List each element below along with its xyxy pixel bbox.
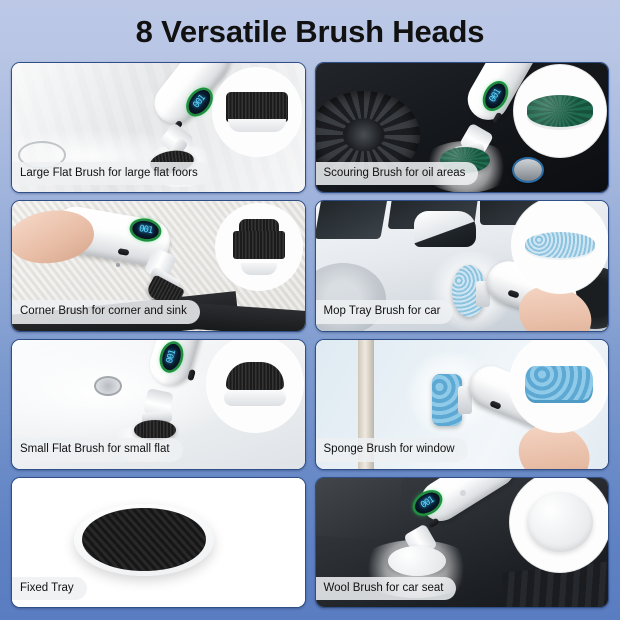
attached-small-flat-brush [134, 420, 176, 440]
inset-corner-brush-icon [233, 219, 285, 275]
panel-wool-brush[interactable]: 001 Wool Brush for car seat [315, 477, 610, 608]
panel-sponge-brush[interactable]: 001 Sponge Brush for window [315, 339, 610, 470]
panel-caption: Large Flat Brush for large flat foors [12, 162, 211, 186]
car-window-rear [316, 201, 388, 239]
panel-caption: Wool Brush for car seat [316, 577, 457, 601]
led-value: 001 [165, 349, 178, 365]
panel-large-flat-brush[interactable]: 001 Large Flat Brush for large flat [11, 62, 306, 193]
led-value: 001 [191, 94, 207, 111]
attached-wool-pad [388, 546, 446, 576]
inset-sponge-icon [525, 366, 593, 400]
inset-sponge [510, 340, 608, 432]
power-button-icon [427, 517, 440, 528]
inset-small-flat-brush [207, 340, 303, 432]
inset-scouring-pad-icon [527, 95, 593, 127]
led-value: 001 [138, 224, 153, 236]
panel-mop-tray-brush[interactable]: 001 Mop Tray Brush for car [315, 200, 610, 331]
fixed-tray-icon [74, 504, 214, 576]
indicator-dot-icon [116, 263, 120, 267]
panel-scouring-brush[interactable]: 001 Scouring Brush for oil areas [315, 62, 610, 193]
inset-brush-icon [226, 92, 288, 132]
panel-caption: Mop Tray Brush for car [316, 300, 454, 324]
inset-large-flat-brush [213, 68, 301, 156]
panel-caption: Small Flat Brush for small flat [12, 438, 183, 462]
led-value: 001 [419, 495, 436, 511]
page-title: 8 Versatile Brush Heads [0, 14, 620, 50]
panel-caption: Fixed Tray [12, 577, 87, 601]
panel-caption: Sponge Brush for window [316, 438, 468, 462]
infographic-page: 8 Versatile Brush Heads 001 [0, 0, 620, 620]
led-value: 001 [487, 88, 502, 104]
brush-head-grid: 001 Large Flat Brush for large flat [11, 62, 609, 608]
panel-caption: Scouring Brush for oil areas [316, 162, 479, 186]
panel-small-flat-brush[interactable]: 001 Small Flat Brush for small flat [11, 339, 306, 470]
inset-mop-pad-icon [525, 232, 595, 258]
panel-caption: Corner Brush for corner and sink [12, 300, 200, 324]
inset-small-brush-icon [224, 362, 286, 406]
panel-corner-brush[interactable]: 001 Corner Brush for corner and [11, 200, 306, 331]
inset-wool-pad [510, 478, 608, 572]
inset-corner-brush [216, 204, 302, 290]
car-mirror-icon [414, 211, 476, 247]
inset-scouring-pad [514, 65, 606, 157]
indicator-dot-icon [460, 490, 466, 496]
panel-fixed-tray[interactable]: Fixed Tray [11, 477, 306, 608]
inset-wool-pad-icon [527, 492, 593, 552]
